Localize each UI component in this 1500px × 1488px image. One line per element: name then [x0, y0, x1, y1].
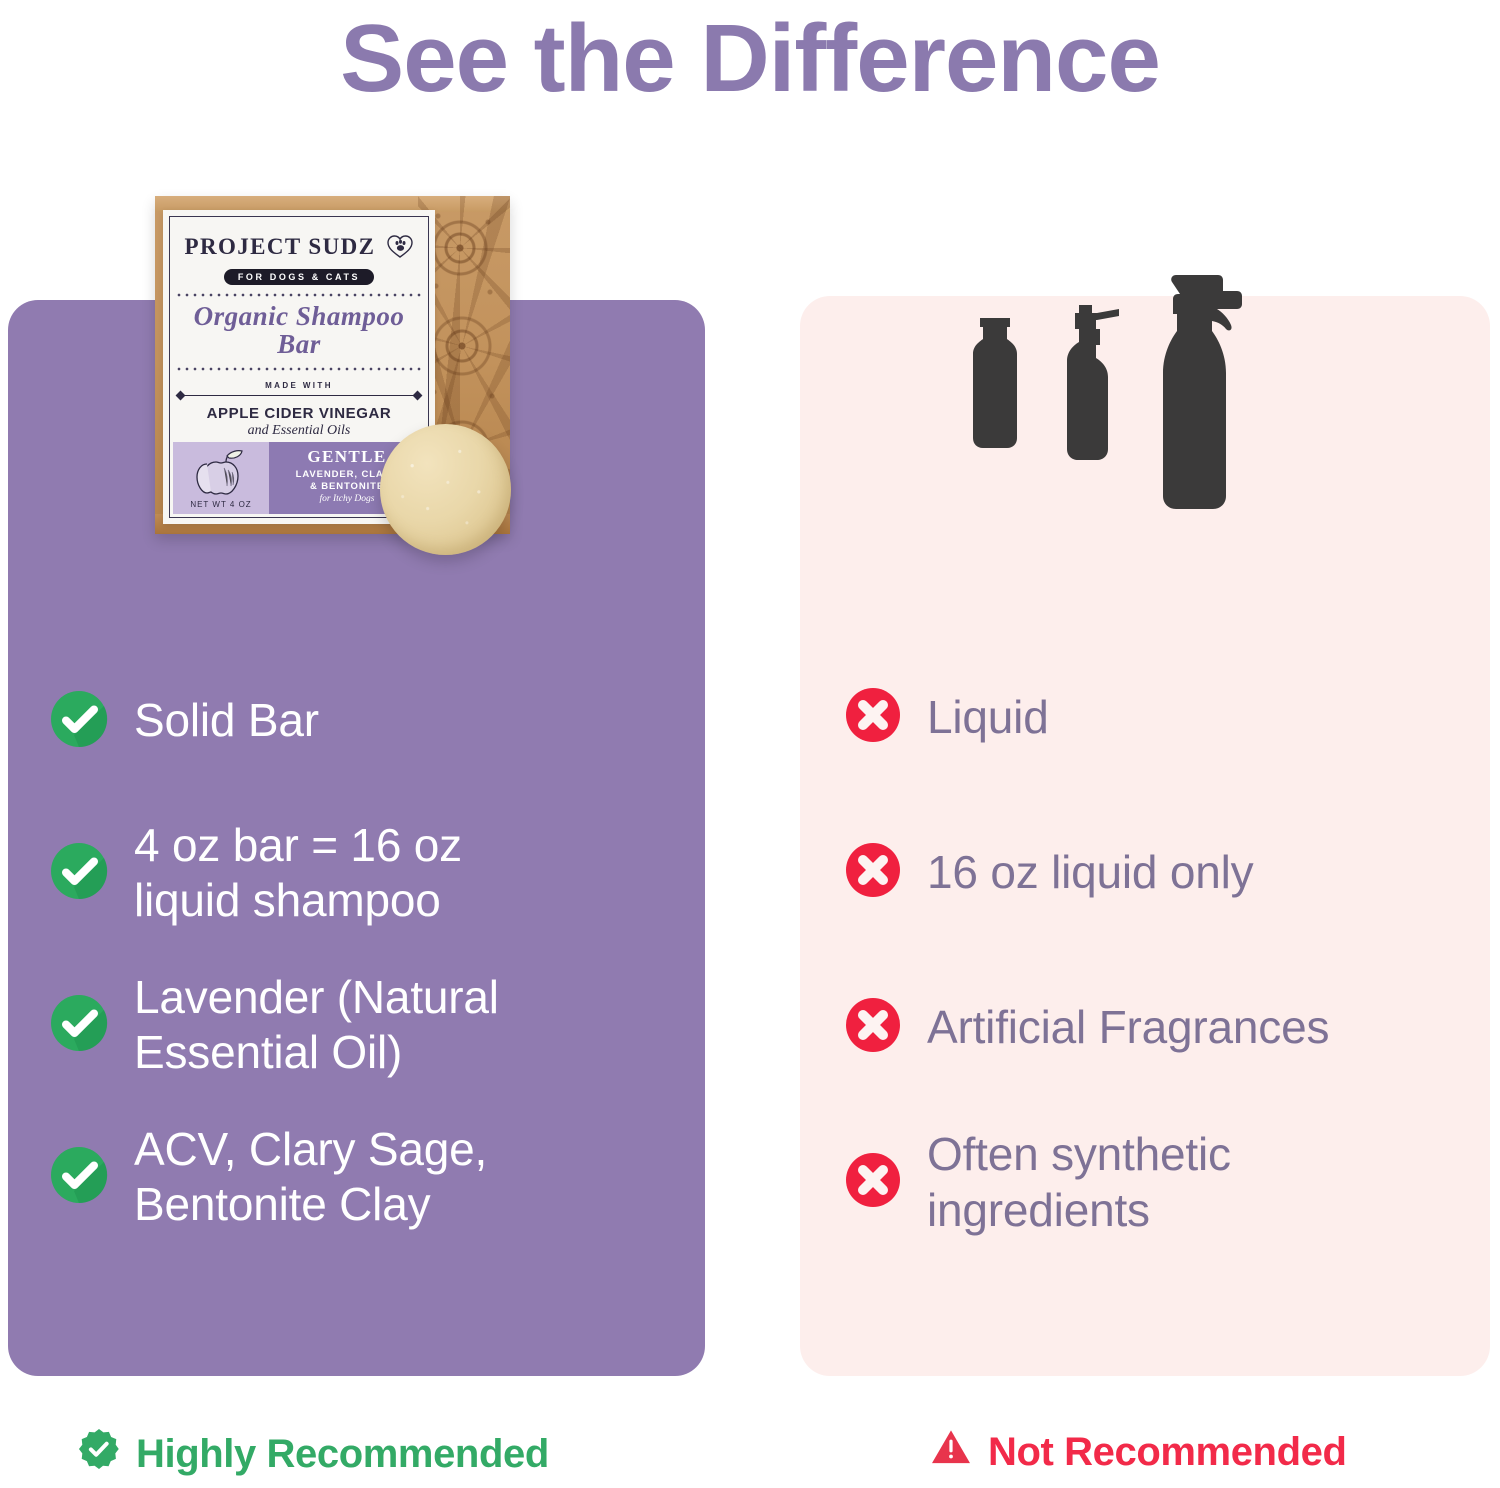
check-circle-icon — [50, 994, 108, 1057]
net-weight: NET WT 4 OZ — [173, 500, 269, 509]
page-title: See the Difference — [0, 6, 1500, 112]
check-circle-icon — [50, 1146, 108, 1209]
list-item: Often syntheticingredients — [845, 1105, 1455, 1260]
list-item-label: Lavender (NaturalEssential Oil) — [134, 970, 499, 1080]
verified-badge-icon — [78, 1428, 120, 1480]
x-circle-icon — [845, 687, 901, 748]
list-item: Lavender (NaturalEssential Oil) — [50, 949, 670, 1101]
list-item: Solid Bar — [50, 645, 670, 797]
con-list: Liquid 16 oz liquid only Artificial Frag… — [845, 640, 1455, 1260]
x-circle-icon — [845, 842, 901, 903]
pro-list: Solid Bar 4 oz bar = 16 ozliquid shampoo… — [50, 645, 670, 1253]
made-with-sub: and Essential Oils — [173, 423, 425, 439]
audience-badge: FOR DOGS & CATS — [224, 269, 374, 285]
soap-bar-icon — [380, 424, 511, 555]
verdict-label: Not Recommended — [988, 1430, 1347, 1475]
list-item-label: Often syntheticingredients — [927, 1127, 1231, 1237]
list-item-label: Solid Bar — [134, 693, 319, 748]
plastic-bottles-icon — [955, 250, 1265, 535]
x-circle-icon — [845, 1152, 901, 1213]
check-circle-icon — [50, 690, 108, 753]
apple-swatch: NET WT 4 OZ — [173, 442, 269, 514]
made-with-label: MADE WITH — [173, 381, 425, 390]
list-item-label: 16 oz liquid only — [927, 845, 1253, 900]
list-item-label: Liquid — [927, 690, 1049, 745]
made-with-main: APPLE CIDER VINEGAR — [173, 405, 425, 422]
not-recommended-verdict: Not Recommended — [930, 1428, 1347, 1476]
label-upper-section: PROJECT SUDZ FOR DOGS & CATS — [173, 218, 425, 436]
highly-recommended-verdict: Highly Recommended — [78, 1428, 549, 1480]
brand-name-wrap: PROJECT SUDZ — [173, 234, 425, 260]
list-item-label: 4 oz bar = 16 ozliquid shampoo — [134, 818, 462, 928]
list-item-label: Artificial Fragrances — [927, 1000, 1329, 1055]
dot-divider-top — [173, 293, 425, 297]
list-item: ACV, Clary Sage,Bentonite Clay — [50, 1101, 670, 1253]
product-image: PROJECT SUDZ FOR DOGS & CATS — [150, 192, 530, 592]
brand-name: PROJECT SUDZ — [185, 234, 376, 259]
verdict-label: Highly Recommended — [136, 1432, 549, 1477]
diamond-rule — [179, 395, 419, 396]
list-item: Artificial Fragrances — [845, 950, 1455, 1105]
list-item: 4 oz bar = 16 ozliquid shampoo — [50, 797, 670, 949]
check-circle-icon — [50, 842, 108, 905]
list-item: Liquid — [845, 640, 1455, 795]
dot-divider-bottom — [173, 367, 425, 371]
apple-illustration-icon — [186, 448, 256, 503]
product-headline: Organic Shampoo Bar — [173, 302, 425, 359]
x-circle-icon — [845, 997, 901, 1058]
paw-heart-icon — [387, 234, 413, 258]
warning-triangle-icon — [930, 1428, 972, 1476]
list-item-label: ACV, Clary Sage,Bentonite Clay — [134, 1122, 487, 1232]
list-item: 16 oz liquid only — [845, 795, 1455, 950]
